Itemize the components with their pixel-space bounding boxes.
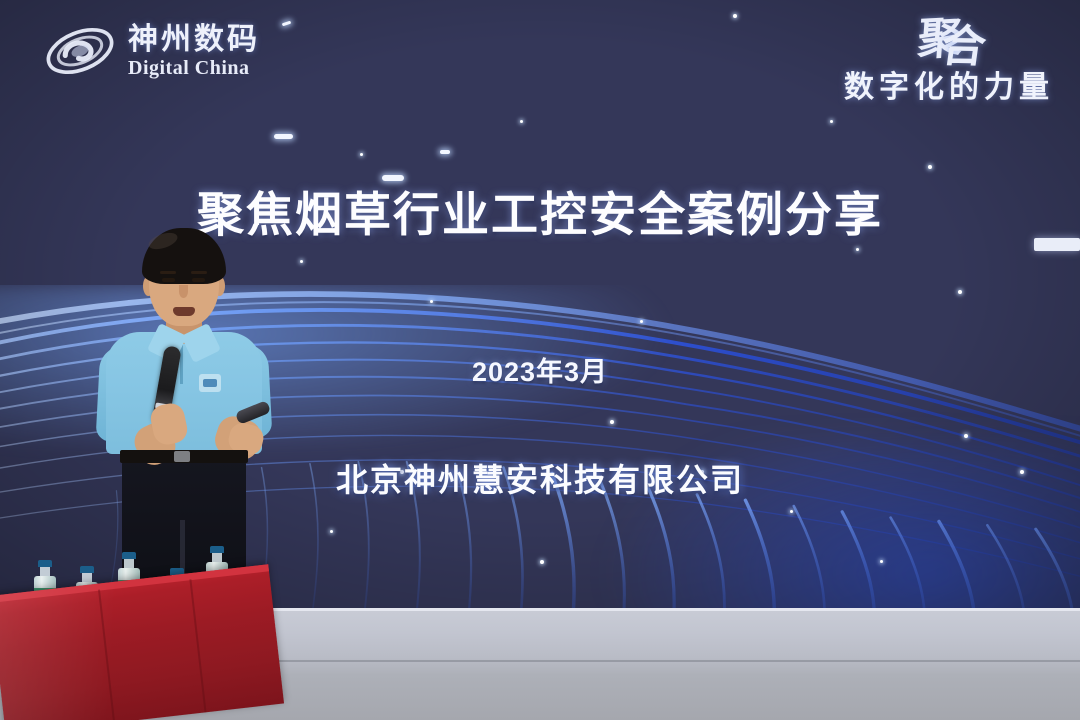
particle-dot [856,248,859,251]
presenter-hair [142,228,226,284]
presenter-nose [179,285,188,298]
particle-dot [300,260,303,263]
bottle-cap [38,560,52,567]
particle-dot [928,165,932,169]
bottle-neck [82,573,92,582]
bottle-neck [40,567,50,576]
presenter-shirt-placket [180,344,183,384]
presenter-belt-buckle [174,451,190,462]
particle-dot [540,560,544,564]
bottle-cap [80,566,94,573]
juhe-brand-logo: 聚合 数字化的力量 [844,18,1054,106]
particle-dot [430,300,433,303]
presenter-mouth [173,307,195,316]
particle-dot [330,530,333,533]
particle-dot [964,434,968,438]
presenter-eyebrow-right [191,271,207,274]
bottle-neck [124,559,134,568]
presenter-eye-right [192,278,205,282]
particle-dot [958,290,962,294]
particle-streak [274,134,293,139]
particle-dot [640,320,643,323]
presenter-eyebrow-left [160,271,176,274]
particle-dot [880,560,883,563]
digital-china-name-en: Digital China [128,58,260,78]
particle-dot [790,510,793,513]
particle-dot [830,120,833,123]
particle-dot [733,14,737,18]
bottle-neck [212,553,222,562]
digital-china-swirl-icon [42,20,118,82]
digital-china-name-cn: 神州数码 [128,25,260,55]
digital-china-logo: 神州数码 Digital China [42,20,260,82]
juhe-calligraphy-mark: 聚合 [842,13,1056,66]
particle-streak [440,150,450,154]
particle-dot [610,420,614,424]
juhe-mark-char-2: 合 [939,26,983,68]
particle-dot [360,153,363,156]
bottle-cap [210,546,224,553]
particle-dot [520,120,523,123]
presenter-eye-left [162,278,175,282]
conference-stage-photo: 聚焦烟草行业工控安全案例分享 2023年3月 北京神州慧安科技有限公司 神州数码… [0,0,1080,720]
bottle-cap [122,552,136,559]
presenter-shirt-logo-badge [199,374,221,392]
slide-accent-bar [1034,238,1080,251]
